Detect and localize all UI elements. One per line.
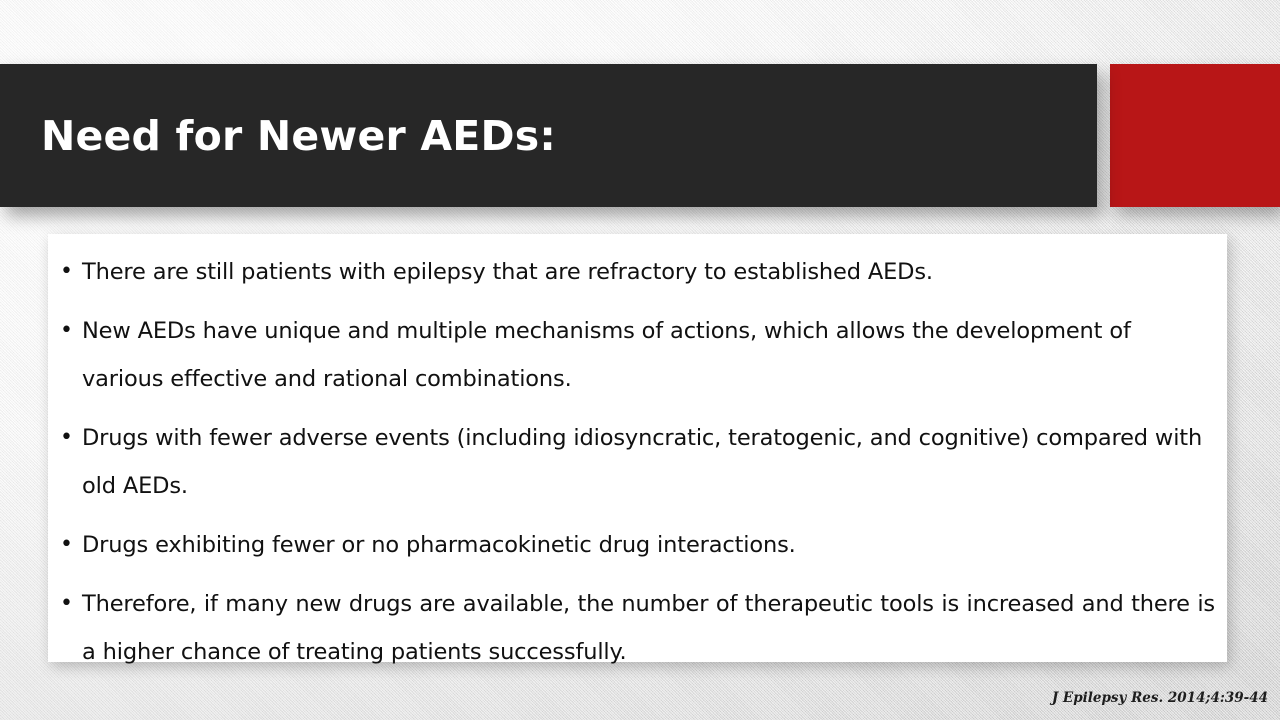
title-bar: Need for Newer AEDs: <box>0 64 1097 207</box>
bullet-dot-icon: • <box>60 580 73 628</box>
bullet-dot-icon: • <box>60 414 73 462</box>
list-item: • There are still patients with epilepsy… <box>48 248 1219 296</box>
list-item-text: There are still patients with epilepsy t… <box>82 248 1219 296</box>
bullet-dot-icon: • <box>60 521 73 569</box>
list-item: • New AEDs have unique and multiple mech… <box>48 307 1219 403</box>
list-item: • Therefore, if many new drugs are avail… <box>48 580 1219 676</box>
slide-canvas: Need for Newer AEDs: • There are still p… <box>0 0 1280 720</box>
list-item: • Drugs with fewer adverse events (inclu… <box>48 414 1219 510</box>
list-item-text: Drugs exhibiting fewer or no pharmacokin… <box>82 521 1219 569</box>
page-title: Need for Newer AEDs: <box>41 112 556 160</box>
bullet-dot-icon: • <box>60 307 73 355</box>
list-item-text: Drugs with fewer adverse events (includi… <box>82 414 1219 510</box>
list-item-text: New AEDs have unique and multiple mechan… <box>82 307 1219 403</box>
accent-block-red <box>1110 64 1280 207</box>
bullet-dot-icon: • <box>60 248 73 296</box>
list-item: • Drugs exhibiting fewer or no pharmacok… <box>48 521 1219 569</box>
source-citation: J Epilepsy Res. 2014;4:39-44 <box>1052 690 1268 706</box>
list-item-text: Therefore, if many new drugs are availab… <box>82 580 1215 676</box>
content-card: • There are still patients with epilepsy… <box>48 234 1227 662</box>
bullet-list: • There are still patients with epilepsy… <box>48 248 1219 676</box>
